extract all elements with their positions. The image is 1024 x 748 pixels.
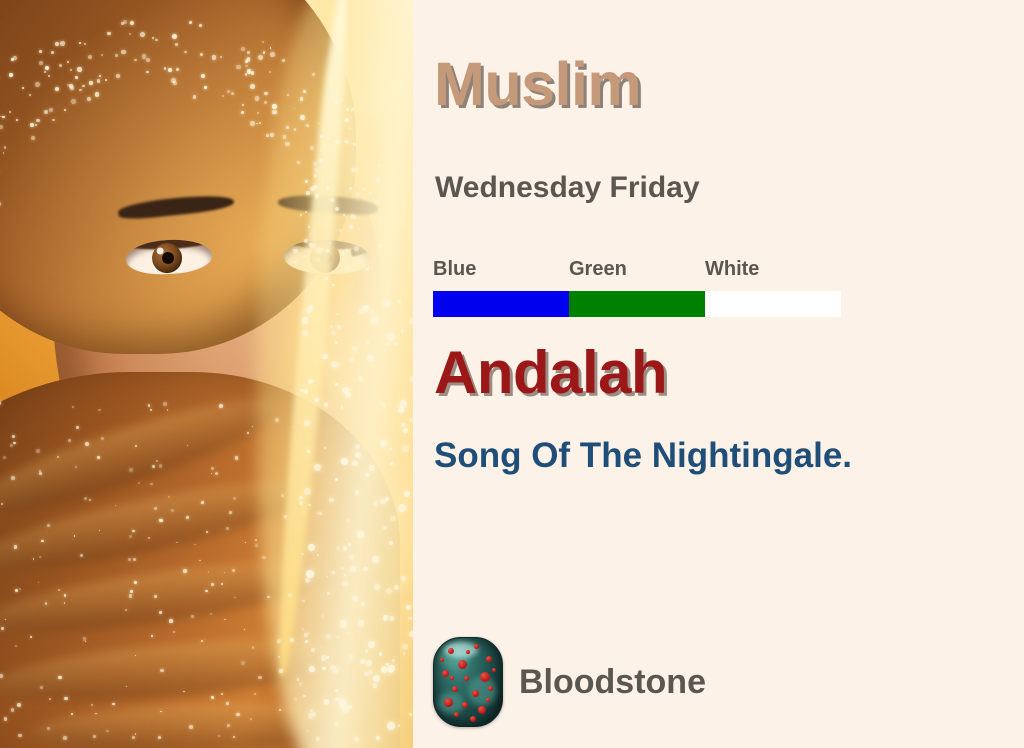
gem-speckle [480,672,490,682]
lucky-days: Wednesday Friday [435,173,700,203]
gem-speckle [478,706,486,714]
gem-speckle [462,702,468,708]
gem-speckle [454,712,459,717]
gemstone-label: Bloodstone [519,665,706,699]
gem-speckle [474,644,479,649]
gem-speckle [492,668,496,672]
gem-speckle [466,650,470,654]
color-label-blue: Blue [433,259,569,279]
gemstone-icon [433,637,503,727]
gem-speckle [450,676,454,680]
hijab-sequins [0,0,413,748]
gem-speckle [458,660,467,669]
color-label-green: Green [569,259,705,279]
color-label-white: White [705,259,841,279]
color-swatch-white [705,291,841,317]
gem-speckle [448,648,454,654]
name-profile-card: Muslim Wednesday Friday Blue Green White… [0,0,1024,748]
gem-speckle [486,656,492,662]
portrait-photo [0,0,413,748]
color-swatch-green [569,291,705,317]
gem-speckle [452,686,458,692]
lucky-color-bar [433,291,841,317]
gem-speckle [442,670,449,677]
name-meaning: Song Of The Nightingale. [434,437,852,476]
photo-stage [0,0,413,748]
gem-speckle [470,716,476,722]
gem-speckle [440,658,444,662]
gem-speckle [444,698,453,707]
gemstone-row: Bloodstone [433,637,706,727]
info-panel: Muslim Wednesday Friday Blue Green White… [413,0,1024,748]
gem-speckle [464,676,469,681]
given-name: Andalah [434,343,667,403]
gem-speckle [488,686,493,691]
religion-title: Muslim [434,54,641,115]
lucky-colors-block: Blue Green White [433,259,841,317]
gem-speckle [486,698,490,702]
color-swatch-blue [433,291,569,317]
gem-speckle [472,690,479,697]
lucky-color-labels: Blue Green White [433,259,841,279]
